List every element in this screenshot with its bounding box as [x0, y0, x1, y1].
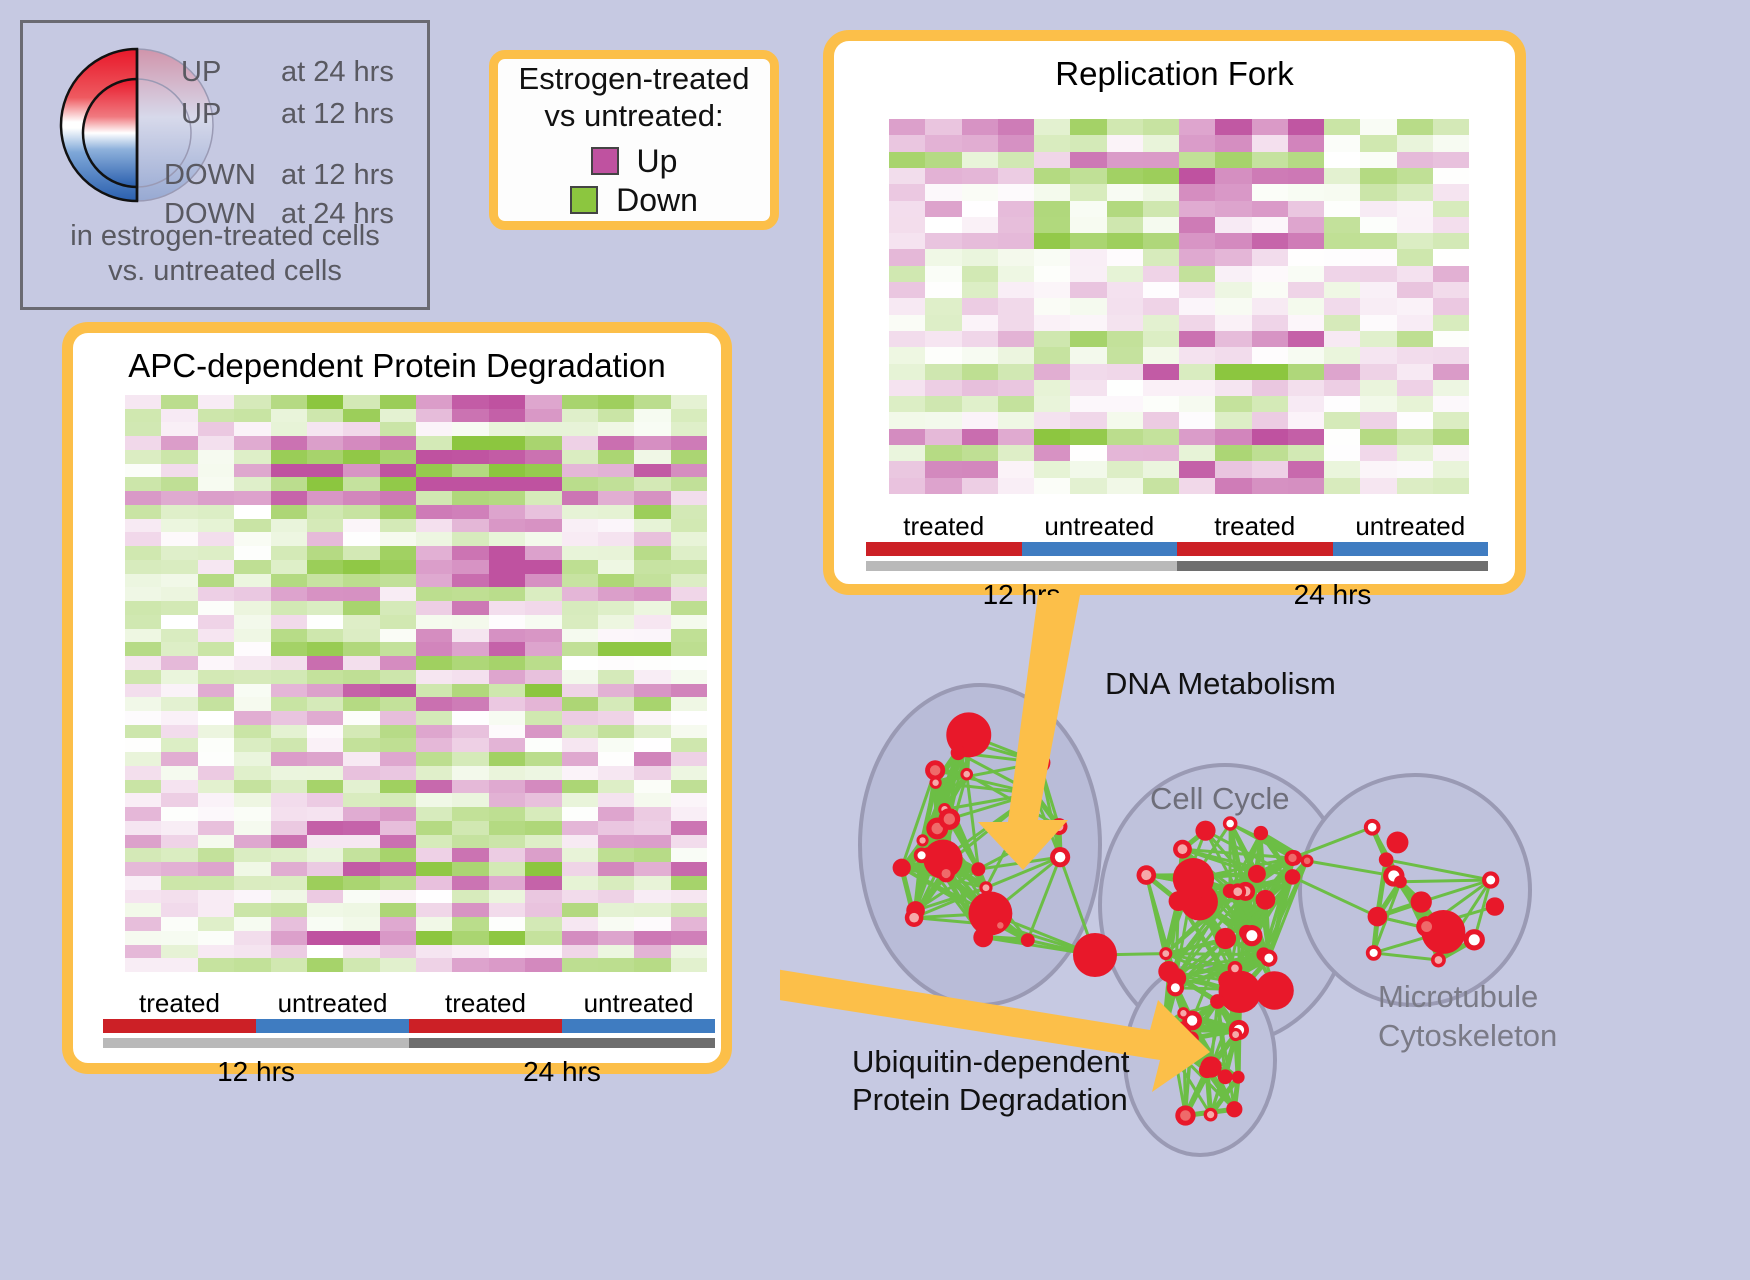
node-outer-ring [1256, 890, 1276, 910]
heatmap-cell [598, 835, 634, 849]
heatmap-cell [1143, 298, 1179, 314]
heatmap-cell [598, 725, 634, 739]
heatmap-cell [343, 519, 379, 533]
heatmap-cell [343, 436, 379, 450]
heatmap-cell [307, 395, 343, 409]
network-node[interactable] [1255, 971, 1294, 1010]
heatmap-cell [1324, 347, 1360, 363]
heatmap-cell [1433, 298, 1469, 314]
network-node[interactable] [1051, 818, 1068, 835]
heatmap-cell [671, 505, 707, 519]
ubiquitin-line-1: Ubiquitin-dependent [852, 1043, 1130, 1081]
network-node[interactable] [1204, 1108, 1218, 1122]
network-node[interactable] [1411, 891, 1432, 912]
heatmap-cell [161, 684, 197, 698]
heatmap-cell [343, 766, 379, 780]
heatmap-cell [307, 642, 343, 656]
heatmap-cell [1107, 412, 1143, 428]
heatmap-cell [1070, 315, 1106, 331]
network-node[interactable] [1486, 897, 1504, 915]
heatmap-cell [271, 546, 307, 560]
heatmap-cell [307, 422, 343, 436]
heatmap-cell [452, 491, 488, 505]
heatmap-cell [271, 725, 307, 739]
heatmap-cell [634, 450, 670, 464]
heatmap-cell [161, 519, 197, 533]
network-node[interactable] [1232, 1071, 1245, 1084]
heatmap-cell [489, 697, 525, 711]
heatmap-cell [1360, 429, 1396, 445]
network-node[interactable] [1021, 933, 1035, 947]
rf-cond-0: treated [866, 511, 1022, 542]
network-node[interactable] [1241, 925, 1262, 946]
heatmap-cell [1252, 364, 1288, 380]
legend-time-up-24: at 24 hrs [281, 58, 394, 87]
heatmap-cell [1179, 184, 1215, 200]
heatmap-cell [562, 395, 598, 409]
heatmap-cell [962, 184, 998, 200]
node-inner-core [1207, 1111, 1214, 1118]
heatmap-cell [562, 642, 598, 656]
heatmap-cell [1360, 168, 1396, 184]
heatmap-cell [1324, 412, 1360, 428]
heatmap-cell [525, 697, 561, 711]
network-node[interactable] [1248, 865, 1266, 883]
heatmap-cell [562, 945, 598, 959]
heatmap-cell [452, 532, 488, 546]
heatmap-cell [307, 697, 343, 711]
heatmap-cell [925, 152, 961, 168]
heatmap-cell [489, 821, 525, 835]
heatmap-cell [307, 848, 343, 862]
heatmap-cell [343, 505, 379, 519]
heatmap-cell [416, 793, 452, 807]
heatmap-cell [161, 629, 197, 643]
heatmap-cell [1179, 168, 1215, 184]
heatmap-cell [998, 364, 1034, 380]
heatmap-cell [925, 315, 961, 331]
heatmap-cell [271, 738, 307, 752]
heatmap-cell [634, 793, 670, 807]
legend-time-down-12: at 12 hrs [281, 161, 394, 190]
network-node[interactable] [1169, 891, 1189, 911]
heatmap-cell [125, 821, 161, 835]
network-node[interactable] [937, 865, 955, 883]
heatmap-cell [1433, 119, 1469, 135]
heatmap-cell [1070, 135, 1106, 151]
heatmap-cell [489, 738, 525, 752]
heatmap-cell [671, 903, 707, 917]
heatmap-cell [1179, 282, 1215, 298]
heatmap-cell [1107, 266, 1143, 282]
heatmap-cell [489, 601, 525, 615]
heatmap-cell [125, 532, 161, 546]
heatmap-cell [998, 429, 1034, 445]
heatmap-cell [234, 532, 270, 546]
network-node[interactable] [1482, 871, 1499, 888]
heatmap-cell [452, 464, 488, 478]
heatmap-cell [343, 601, 379, 615]
heatmap-cell [380, 945, 416, 959]
rf-time-labels: 12 hrs 24 hrs [866, 579, 1488, 611]
heatmap-cell [416, 697, 452, 711]
heatmap-cell [889, 461, 925, 477]
apc-timebar-24 [409, 1038, 715, 1048]
heatmap-cell [562, 615, 598, 629]
heatmap-cell [634, 711, 670, 725]
heatmap-cell [671, 725, 707, 739]
heatmap-cell [198, 903, 234, 917]
functional-network-diagram [790, 620, 1750, 1280]
heatmap-cell [1252, 233, 1288, 249]
heatmap-cell [234, 642, 270, 656]
heatmap-cell [634, 780, 670, 794]
network-node[interactable] [1137, 865, 1157, 885]
heatmap-cell [1397, 152, 1433, 168]
heatmap-cell [234, 876, 270, 890]
heatmap-cell [161, 807, 197, 821]
network-node[interactable] [1387, 832, 1409, 854]
network-node[interactable] [1379, 852, 1394, 867]
heatmap-cell [307, 601, 343, 615]
heatmap-cell [525, 835, 561, 849]
heatmap-cell [307, 793, 343, 807]
heatmap-cell [125, 958, 161, 972]
heatmap-cell [634, 409, 670, 423]
heatmap-cell [1143, 315, 1179, 331]
heatmap-cell [525, 656, 561, 670]
heatmap-cell [1179, 201, 1215, 217]
heatmap-cell [307, 766, 343, 780]
network-node[interactable] [1464, 929, 1485, 950]
heatmap-cell [234, 752, 270, 766]
network-node[interactable] [1254, 826, 1268, 840]
heatmap-cell [1397, 282, 1433, 298]
heatmap-cell [271, 890, 307, 904]
network-node[interactable] [979, 881, 992, 894]
rf-bar-untreated-12 [1022, 542, 1178, 556]
network-node[interactable] [1153, 1027, 1173, 1047]
apc-axis: treated untreated treated untreated 12 h… [103, 988, 715, 1088]
heatmap-cell [161, 711, 197, 725]
network-node[interactable] [1200, 1056, 1221, 1077]
heatmap-cell [198, 807, 234, 821]
rf-time-0: 12 hrs [866, 579, 1177, 611]
heatmap-cell [271, 848, 307, 862]
heatmap-cell [1360, 315, 1396, 331]
heatmap-cell [1143, 266, 1179, 282]
node-inner-core [1141, 870, 1151, 880]
network-node[interactable] [951, 745, 966, 760]
network-node[interactable] [1173, 840, 1192, 859]
heatmap-cell [1107, 119, 1143, 135]
apc-time-0: 12 hrs [103, 1056, 409, 1088]
heatmap-cell [343, 546, 379, 560]
heatmap-cell [198, 656, 234, 670]
network-node[interactable] [1285, 869, 1301, 885]
heatmap-cell [671, 807, 707, 821]
network-node[interactable] [1416, 916, 1437, 937]
heatmap-cell [1215, 135, 1251, 151]
heatmap-cell [1433, 331, 1469, 347]
heatmap-cell [1179, 364, 1215, 380]
heatmap-cell [198, 862, 234, 876]
heatmap-cell [1107, 396, 1143, 412]
heatmap-cell [489, 945, 525, 959]
heatmap-cell [343, 931, 379, 945]
node-outer-ring [1029, 752, 1051, 774]
heatmap-cell [380, 931, 416, 945]
node-outer-ring [1285, 869, 1301, 885]
network-node[interactable] [1394, 875, 1407, 888]
heatmap-cell [161, 793, 197, 807]
network-node[interactable] [1177, 1007, 1189, 1019]
heatmap-cell [1288, 233, 1324, 249]
heatmap-cell [416, 560, 452, 574]
heatmap-cell [671, 752, 707, 766]
network-edge [1166, 954, 1264, 955]
heatmap-cell [380, 395, 416, 409]
heatmap-cell [1143, 347, 1179, 363]
network-node[interactable] [1226, 1101, 1242, 1117]
heatmap-cell [525, 862, 561, 876]
heatmap-cell [343, 587, 379, 601]
network-node[interactable] [994, 919, 1007, 932]
network-node[interactable] [1301, 854, 1314, 867]
footnote-line-2: vs. untreated cells [23, 254, 427, 289]
heatmap-cell [598, 615, 634, 629]
heatmap-cell [634, 890, 670, 904]
heatmap-cell [380, 876, 416, 890]
down-swatch-icon [570, 186, 598, 214]
apc-cond-3: untreated [562, 988, 715, 1019]
heatmap-cell [125, 848, 161, 862]
network-node[interactable] [1229, 883, 1246, 900]
heatmap-cell [1433, 217, 1469, 233]
network-node[interactable] [1175, 1105, 1195, 1125]
heatmap-cell [1143, 233, 1179, 249]
network-node[interactable] [1195, 821, 1215, 841]
heatmap-cell [1107, 461, 1143, 477]
heatmap-cell [634, 560, 670, 574]
network-node[interactable] [971, 862, 985, 876]
heatmap-cell [634, 422, 670, 436]
heatmap-cell [1433, 429, 1469, 445]
heatmap-cell [271, 601, 307, 615]
heatmap-cell [380, 917, 416, 931]
heatmap-cell [962, 152, 998, 168]
network-node[interactable] [1158, 961, 1179, 982]
node-inner-core [1233, 887, 1242, 896]
heatmap-cell [380, 848, 416, 862]
heatmap-cell [125, 862, 161, 876]
network-node[interactable] [929, 777, 941, 789]
heatmap-cell [525, 766, 561, 780]
network-node[interactable] [1029, 752, 1051, 774]
network-node[interactable] [1174, 1022, 1191, 1039]
network-node[interactable] [1223, 816, 1238, 831]
node-outer-ring [1254, 826, 1268, 840]
heatmap-cell [307, 615, 343, 629]
heatmap-cell [452, 477, 488, 491]
heatmap-cell [125, 601, 161, 615]
network-node[interactable] [1159, 947, 1172, 960]
node-outer-ring [1174, 1022, 1191, 1039]
network-node[interactable] [905, 908, 924, 927]
heatmap-cell [925, 364, 961, 380]
network-node[interactable] [1364, 819, 1381, 836]
heatmap-cell [125, 574, 161, 588]
heatmap-cell [1070, 233, 1106, 249]
heatmap-cell [416, 615, 452, 629]
heatmap-cell [925, 184, 961, 200]
heatmap-cell [234, 587, 270, 601]
network-node[interactable] [1215, 928, 1236, 949]
heatmap-cell [562, 862, 598, 876]
heatmap-cell [889, 119, 925, 135]
heatmap-cell [234, 835, 270, 849]
heatmap-cell [416, 725, 452, 739]
heatmap-cell [1252, 168, 1288, 184]
heatmap-cell [598, 477, 634, 491]
heatmap-cell [1324, 364, 1360, 380]
heatmap-cell [1433, 282, 1469, 298]
heatmap-cell [925, 217, 961, 233]
heatmap-cell [1397, 298, 1433, 314]
circle-legend-box: UP at 24 hrs UP at 12 hrs DOWN at 12 hrs… [20, 20, 430, 310]
heatmap-cell [271, 917, 307, 931]
heatmap-cell [380, 738, 416, 752]
heatmap-cell [1215, 315, 1251, 331]
network-node[interactable] [960, 768, 973, 781]
heatmap-cell [634, 697, 670, 711]
heatmap-cell [198, 738, 234, 752]
heatmap-cell [343, 395, 379, 409]
heatmap-cell [489, 766, 525, 780]
heatmap-cell [161, 917, 197, 931]
heatmap-cell [1288, 168, 1324, 184]
heatmap-cell [1070, 445, 1106, 461]
node-outer-ring [973, 927, 993, 947]
heatmap-cell [1397, 168, 1433, 184]
node-outer-ring [1255, 971, 1294, 1010]
heatmap-cell [598, 821, 634, 835]
heatmap-cell [198, 684, 234, 698]
network-node[interactable] [1050, 847, 1070, 867]
network-node[interactable] [1228, 961, 1243, 976]
heatmap-cell [452, 835, 488, 849]
heatmap-cell [234, 945, 270, 959]
node-inner-core [1486, 875, 1495, 884]
network-node[interactable] [1229, 1028, 1242, 1041]
heatmap-cell [234, 450, 270, 464]
heatmap-cell [671, 793, 707, 807]
heatmap-cell [271, 876, 307, 890]
network-node[interactable] [938, 808, 960, 830]
heatmap-cell [1360, 461, 1396, 477]
heatmap-cell [307, 945, 343, 959]
node-inner-core [1157, 1032, 1167, 1042]
network-node[interactable] [1256, 890, 1276, 910]
heatmap-cell [889, 168, 925, 184]
network-node[interactable] [968, 892, 1012, 936]
heatmap-cell [998, 445, 1034, 461]
heatmap-cell [125, 684, 161, 698]
heatmap-cell [1324, 315, 1360, 331]
heatmap-cell [1107, 249, 1143, 265]
heatmap-cell [343, 450, 379, 464]
heatmap-cell [161, 876, 197, 890]
heatmap-cell [452, 409, 488, 423]
heatmap-cell [1360, 412, 1396, 428]
heatmap-cell [452, 945, 488, 959]
updown-header-line-1: Estrogen-treated [519, 61, 750, 98]
network-node[interactable] [914, 847, 930, 863]
heatmap-cell [925, 429, 961, 445]
heatmap-cell [634, 670, 670, 684]
apc-cond-1: untreated [256, 988, 409, 1019]
network-node[interactable] [1210, 994, 1225, 1009]
network-node[interactable] [1027, 786, 1043, 802]
heatmap-cell [343, 684, 379, 698]
network-node[interactable] [1431, 953, 1446, 968]
apc-time-labels: 12 hrs 24 hrs [103, 1056, 715, 1088]
heatmap-cell [1107, 364, 1143, 380]
network-node[interactable] [1368, 907, 1388, 927]
heatmap-cell [452, 931, 488, 945]
heatmap-cell [125, 780, 161, 794]
heatmap-cell [198, 958, 234, 972]
heatmap-cell [416, 752, 452, 766]
heatmap-cell [1433, 445, 1469, 461]
network-node[interactable] [1073, 933, 1117, 977]
heatmap-cell [380, 656, 416, 670]
network-node[interactable] [1260, 950, 1277, 967]
heatmap-cell [380, 752, 416, 766]
network-node[interactable] [1284, 850, 1300, 866]
heatmap-cell [271, 395, 307, 409]
heatmap-cell [380, 903, 416, 917]
heatmap-cell [1215, 168, 1251, 184]
heatmap-cell [307, 519, 343, 533]
ubiquitin-line-2: Protein Degradation [852, 1081, 1130, 1119]
heatmap-cell [125, 615, 161, 629]
panel-replication-fork: Replication Fork treated untreated treat… [823, 30, 1526, 595]
network-node[interactable] [1167, 979, 1184, 996]
heatmap-cell [1252, 331, 1288, 347]
heatmap-cell [307, 684, 343, 698]
heatmap-cell [271, 560, 307, 574]
heatmap-cell [198, 519, 234, 533]
heatmap-cell [489, 656, 525, 670]
heatmap-cell [1288, 119, 1324, 135]
heatmap-cell [1107, 233, 1143, 249]
heatmap-cell [343, 835, 379, 849]
network-node[interactable] [973, 927, 993, 947]
network-node[interactable] [893, 859, 911, 877]
heatmap-cell [562, 738, 598, 752]
network-node[interactable] [916, 834, 928, 846]
heatmap-cell [889, 282, 925, 298]
heatmap-cell [271, 945, 307, 959]
heatmap-cell [1034, 217, 1070, 233]
heatmap-cell [1252, 249, 1288, 265]
heatmap-cell [161, 958, 197, 972]
network-node[interactable] [1366, 945, 1382, 961]
heatmap-cell [525, 711, 561, 725]
heatmap-cell [234, 807, 270, 821]
heatmap-cell [1288, 331, 1324, 347]
